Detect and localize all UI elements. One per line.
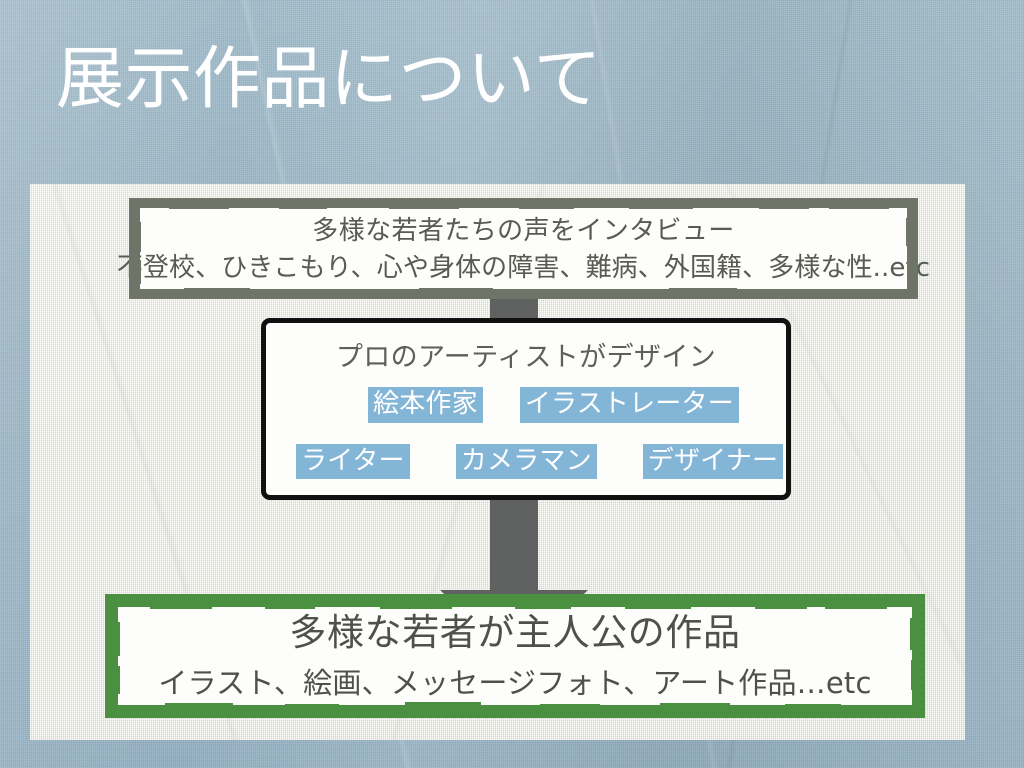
role-tag-illustrator: イラストレーター [520, 387, 739, 423]
flow-box-artists: プロのアーティストがデザイン 絵本作家 イラストレーター ライター カメラマン … [261, 318, 791, 500]
box-interview-heading: 多様な若者たちの声をインタビュー [312, 214, 734, 248]
content-panel: 多様な若者たちの声をインタビュー 不登校、ひきこもり、心や身体の障害、難病、外国… [30, 184, 965, 740]
flow-box-interview: 多様な若者たちの声をインタビュー 不登校、ひきこもり、心や身体の障害、難病、外国… [129, 198, 918, 299]
box-works-heading: 多様な若者が主人公の作品 [289, 609, 740, 657]
box-interview-subtext: 不登校、ひきこもり、心や身体の障害、難病、外国籍、多様な性..etc [117, 251, 930, 285]
page-title: 展示作品について [56, 42, 956, 118]
role-tag-row-1: 絵本作家 イラストレーター [266, 387, 786, 423]
box-works-subtext: イラスト、絵画、メッセージフォト、アート作品…etc [158, 665, 871, 703]
slide: 展示作品について [0, 0, 1024, 768]
role-tag-row-2: ライター カメラマン デザイナー [266, 444, 786, 480]
role-tag-designer: デザイナー [643, 444, 783, 480]
role-tag-picture-book-author: 絵本作家 [368, 387, 483, 423]
role-tag-writer: ライター [296, 444, 410, 480]
flow-box-works: 多様な若者が主人公の作品 イラスト、絵画、メッセージフォト、アート作品…etc [105, 594, 925, 718]
box-artists-heading: プロのアーティストがデザイン [336, 335, 716, 374]
role-tag-cameraman: カメラマン [456, 444, 597, 480]
